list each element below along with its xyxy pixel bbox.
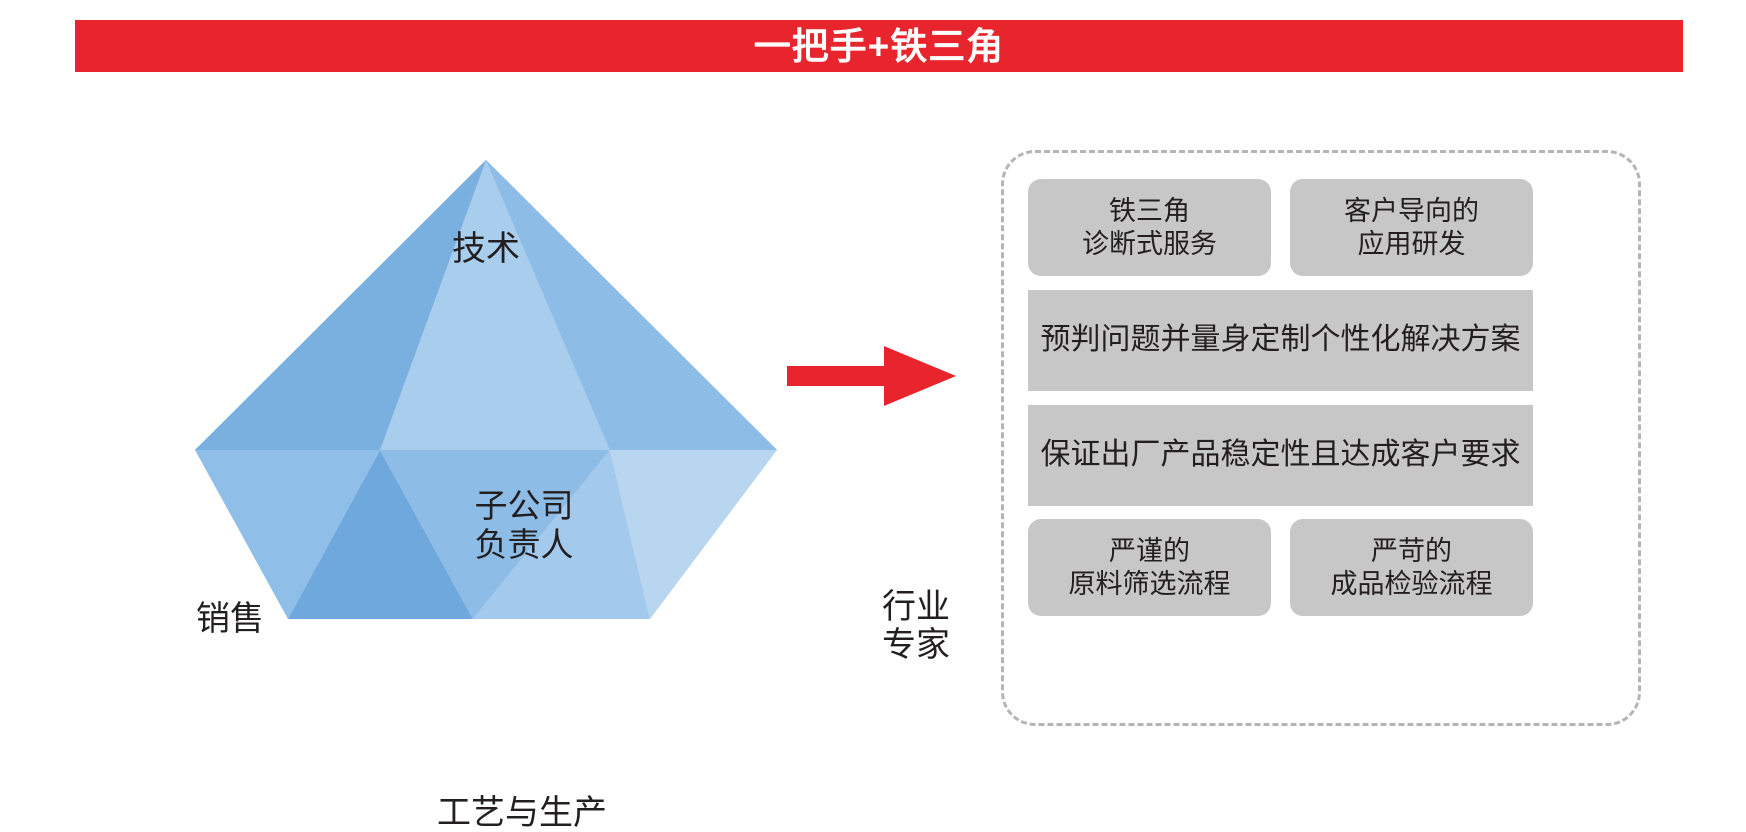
- outcome-chip[interactable]: 保证出厂产品稳定性且达成客户要求: [1028, 405, 1533, 506]
- pyramid-vertex-label-top: 技术: [452, 230, 520, 268]
- chip-line1: 保证出厂产品稳定性且达成客户要求: [1041, 437, 1521, 474]
- outcome-chip[interactable]: 严谨的 原料筛选流程: [1028, 519, 1271, 616]
- chip-line1: 客户导向的: [1344, 195, 1479, 228]
- page-title: 一把手+铁三角: [754, 28, 1005, 65]
- pyramid-shape: [90, 130, 890, 730]
- pyramid-vertex-label-right: 行业 专家: [882, 588, 950, 664]
- outcome-chip[interactable]: 严苛的 成品检验流程: [1290, 519, 1533, 616]
- center-label-line1: 子公司: [475, 487, 574, 526]
- chip-line2: 成品检验流程: [1331, 568, 1493, 601]
- pyramid-diagram: 技术 销售 行业 专家 工艺与生产 子公司 负责人: [90, 130, 890, 730]
- chip-line1: 预判问题并量身定制个性化解决方案: [1041, 322, 1521, 359]
- outcome-chip[interactable]: 铁三角 诊断式服务: [1028, 179, 1271, 276]
- pyramid-vertex-label-left: 销售: [196, 600, 264, 638]
- vertex-bottom-text: 工艺与生产: [437, 794, 607, 832]
- chip-line2: 诊断式服务: [1082, 228, 1217, 261]
- chip-line1: 严苛的: [1331, 535, 1493, 568]
- vertex-right-text-line1: 行业: [882, 588, 950, 626]
- chip-line2: 应用研发: [1344, 228, 1479, 261]
- chip-line1: 严谨的: [1069, 535, 1231, 568]
- vertex-right-text-line2: 专家: [882, 626, 950, 664]
- chip-line2: 原料筛选流程: [1069, 568, 1231, 601]
- title-banner: 一把手+铁三角: [75, 20, 1683, 72]
- vertex-left-text: 销售: [196, 600, 264, 638]
- chip-line1: 铁三角: [1082, 195, 1217, 228]
- center-label-line2: 负责人: [475, 526, 574, 565]
- right-arrow-icon: [784, 318, 964, 418]
- vertex-top-text: 技术: [452, 230, 520, 268]
- slide-canvas: 一把手+铁三角 技术 销售 行业 专家: [0, 0, 1746, 774]
- pyramid-center-label: 子公司 负责人: [475, 487, 574, 565]
- outcome-chip[interactable]: 客户导向的 应用研发: [1290, 179, 1533, 276]
- outcome-chip[interactable]: 预判问题并量身定制个性化解决方案: [1028, 290, 1533, 391]
- pyramid-vertex-label-bottom: 工艺与生产: [437, 794, 607, 832]
